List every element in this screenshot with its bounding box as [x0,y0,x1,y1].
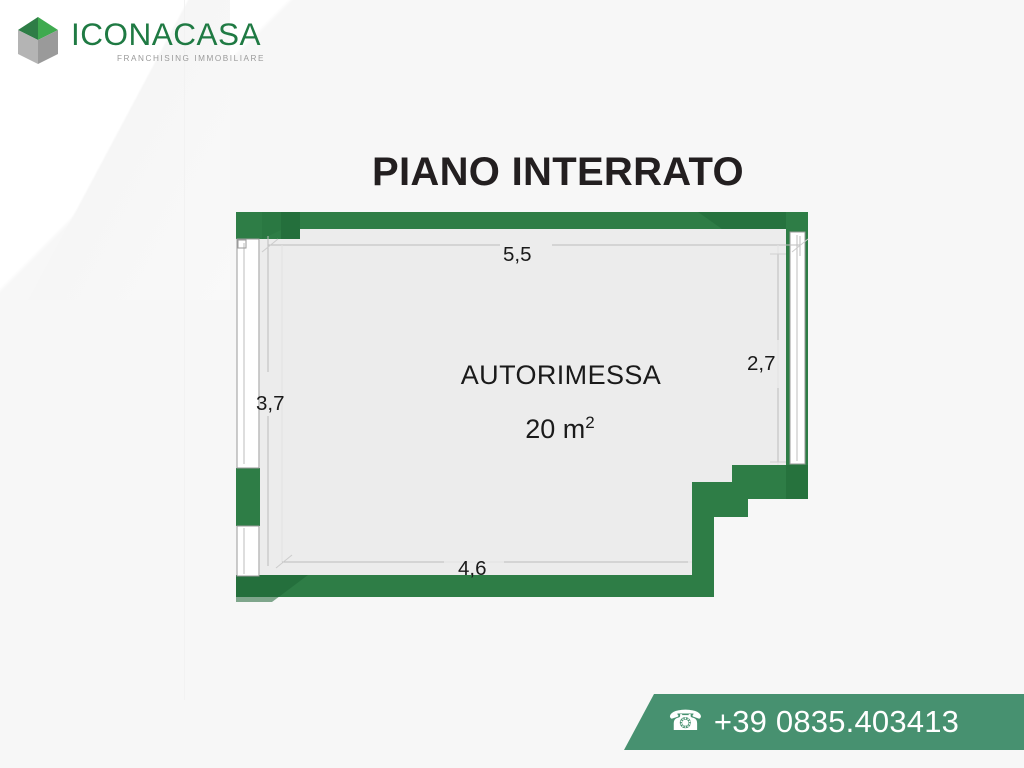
wall-notch-shadow-a [786,465,808,499]
room-area: 20 m2 [0,413,1024,445]
room-area-text: 20 m2 [429,414,595,444]
contact-banner[interactable]: ☎ +39 0835.403413 [620,694,1024,750]
brand-tagline: FRANCHISING IMMOBILIARE [117,54,265,63]
cube-logo-icon [14,15,62,67]
background-divider [184,0,185,700]
left-wall-opening-lower [237,526,259,576]
dimension-right: 2,7 [747,352,776,376]
page-title: PIANO INTERRATO [0,150,1024,195]
dimension-bottom: 4,6 [458,557,487,581]
dimension-top: 5,5 [503,243,532,267]
dimension-left: 3,7 [256,392,285,416]
room-name-text: AUTORIMESSA [363,360,661,390]
phone-handset-icon: ☎ [668,707,703,735]
phone-number: +39 0835.403413 [714,704,959,740]
room-area-value: 20 m [525,414,585,444]
brand-name: ICONACASA [71,19,265,51]
page-title-text: PIANO INTERRATO [280,150,744,194]
room-area-exponent: 2 [585,413,594,432]
brand-wordmark: ICONACASA FRANCHISING IMMOBILIARE [71,19,265,64]
brand-logo: ICONACASA FRANCHISING IMMOBILIARE [14,10,264,72]
contact-banner-content: ☎ +39 0835.403413 [668,694,959,750]
room-name: AUTORIMESSA [0,360,1024,391]
wall-top-left-shadow [281,212,300,239]
wall-left-pier [236,468,260,526]
